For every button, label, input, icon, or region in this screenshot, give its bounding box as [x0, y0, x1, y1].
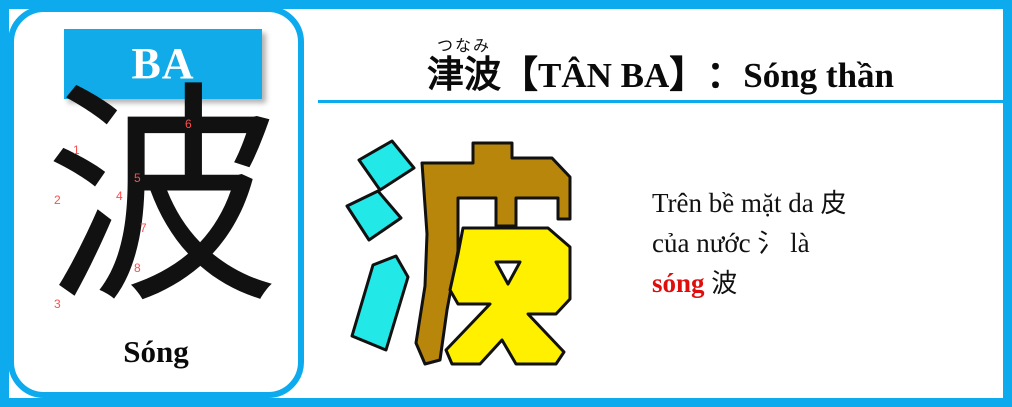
explanation-line-2-text: của nước: [652, 228, 757, 258]
explanation-line-3: sóng 波: [652, 264, 962, 304]
component-color-svg: [330, 114, 630, 389]
bracket-open: 【: [501, 56, 538, 93]
stroke-order-diagram: 波 1 2 3 4 5 6 7 8: [28, 104, 296, 339]
title-divider: [318, 100, 1003, 103]
stroke-number-6: 6: [185, 118, 192, 130]
kanji-word: 津波: [427, 56, 501, 93]
frame-border-right: [1003, 0, 1012, 407]
stroke-number-4: 4: [116, 190, 123, 202]
water-stroke-3: [352, 256, 408, 350]
flashcard-page: BA 波 1 2 3 4 5 6 7 8 Sóng つなみ 津波 【 TÂN B…: [0, 0, 1012, 407]
stroke-number-5: 5: [134, 172, 141, 184]
component-color-diagram: [330, 114, 630, 389]
frame-border-bottom: [0, 398, 1012, 407]
bracket-close: 】: [669, 56, 706, 93]
kanji-with-furigana: つなみ 津波: [427, 38, 501, 93]
explanation-line-1: Trên bề mặt da 皮: [652, 184, 962, 224]
water-stroke-2: [347, 191, 401, 240]
explanation-line-2: của nước 氵 là: [652, 224, 962, 264]
skin-radical-shape: [446, 228, 570, 364]
stroke-number-3: 3: [54, 298, 61, 310]
stroke-number-7: 7: [140, 222, 147, 234]
stroke-order-character: 波: [28, 82, 296, 317]
title-colon: ：: [706, 56, 743, 93]
explanation-line-1-text: Trên bề mặt da: [652, 188, 820, 218]
content-region: つなみ 津波 【 TÂN BA 】 ： Sóng thần: [312, 9, 1003, 398]
explanation-text: Trên bề mặt da 皮 của nước 氵 là sóng 波: [652, 184, 962, 304]
vocabulary-title: つなみ 津波 【 TÂN BA 】 ： Sóng thần: [318, 15, 1003, 95]
stroke-number-8: 8: [134, 262, 141, 274]
highlighted-meaning: sóng: [652, 268, 705, 298]
vietnamese-meaning: Sóng thần: [743, 58, 894, 93]
stroke-number-1: 1: [73, 144, 80, 156]
water-radical-kanji: 氵: [757, 229, 783, 259]
skin-radical-strokes: [446, 228, 570, 364]
water-stroke-1: [359, 141, 414, 190]
sino-vietnamese-reading: TÂN BA: [538, 58, 669, 93]
wave-kanji: 波: [711, 269, 737, 299]
title-line: つなみ 津波 【 TÂN BA 】 ： Sóng thần: [427, 38, 894, 93]
skin-kanji: 皮: [820, 189, 846, 219]
character-card: BA 波 1 2 3 4 5 6 7 8 Sóng: [8, 6, 304, 398]
explanation-line-2-tail: là: [783, 228, 809, 258]
stroke-number-2: 2: [54, 194, 61, 206]
card-reading-label: Sóng: [14, 334, 298, 370]
water-radical-strokes: [347, 141, 414, 350]
